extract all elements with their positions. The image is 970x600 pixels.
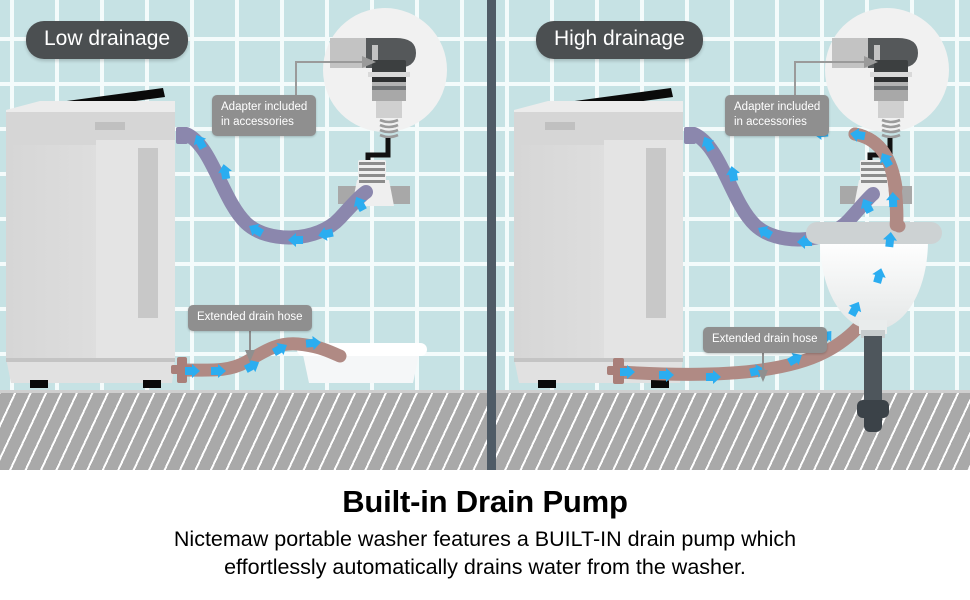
washer-foot	[538, 380, 556, 388]
callout-line-1: Adapter included	[734, 100, 820, 115]
panel-low-drainage: Low drainage Adapter included in accesso…	[0, 0, 487, 470]
caption-body-line-2: effortlessly automatically drains water …	[224, 555, 746, 579]
washing-machine	[6, 88, 188, 388]
washer-door-handle	[138, 148, 158, 318]
wall-sink	[806, 222, 942, 432]
callout-adapter-right: Adapter included in accessories	[725, 95, 829, 136]
washer-foot	[30, 380, 48, 388]
caption-block: Built-in Drain Pump Nictemaw portable wa…	[0, 470, 970, 600]
washer-control-strip	[545, 122, 575, 130]
sink-rim	[806, 222, 942, 244]
washer-door-handle	[646, 148, 666, 318]
panel-high-drainage: High drainage Adapter included in access…	[495, 0, 970, 470]
badge-high-drainage: High drainage	[536, 21, 703, 59]
callout-line-2: in accessories	[221, 115, 307, 130]
callout-hose-right: Extended drain hose	[703, 327, 827, 353]
washer-foot	[143, 380, 161, 388]
high-drainage-scene	[495, 0, 970, 470]
washer-control-strip	[95, 122, 125, 130]
callout-hose-left: Extended drain hose	[188, 305, 312, 331]
callout-line-2: in accessories	[734, 115, 820, 130]
caption-body-line-1: Nictemaw portable washer features a BUIL…	[174, 527, 796, 551]
washing-machine	[514, 88, 696, 388]
page-root: Low drainage Adapter included in accesso…	[0, 0, 970, 600]
caption-title: Built-in Drain Pump	[0, 470, 970, 520]
panel-divider	[487, 0, 496, 470]
sink-drain-pipe	[864, 336, 882, 408]
sink-bowl	[820, 240, 928, 330]
callout-line-1: Adapter included	[221, 100, 307, 115]
low-drainage-scene	[0, 0, 487, 470]
inlet-hose	[186, 134, 366, 237]
badge-low-drainage: Low drainage	[26, 21, 188, 59]
callout-adapter-left: Adapter included in accessories	[212, 95, 316, 136]
drainage-illustration: Low drainage Adapter included in accesso…	[0, 0, 970, 470]
caption-body: Nictemaw portable washer features a BUIL…	[0, 526, 970, 581]
